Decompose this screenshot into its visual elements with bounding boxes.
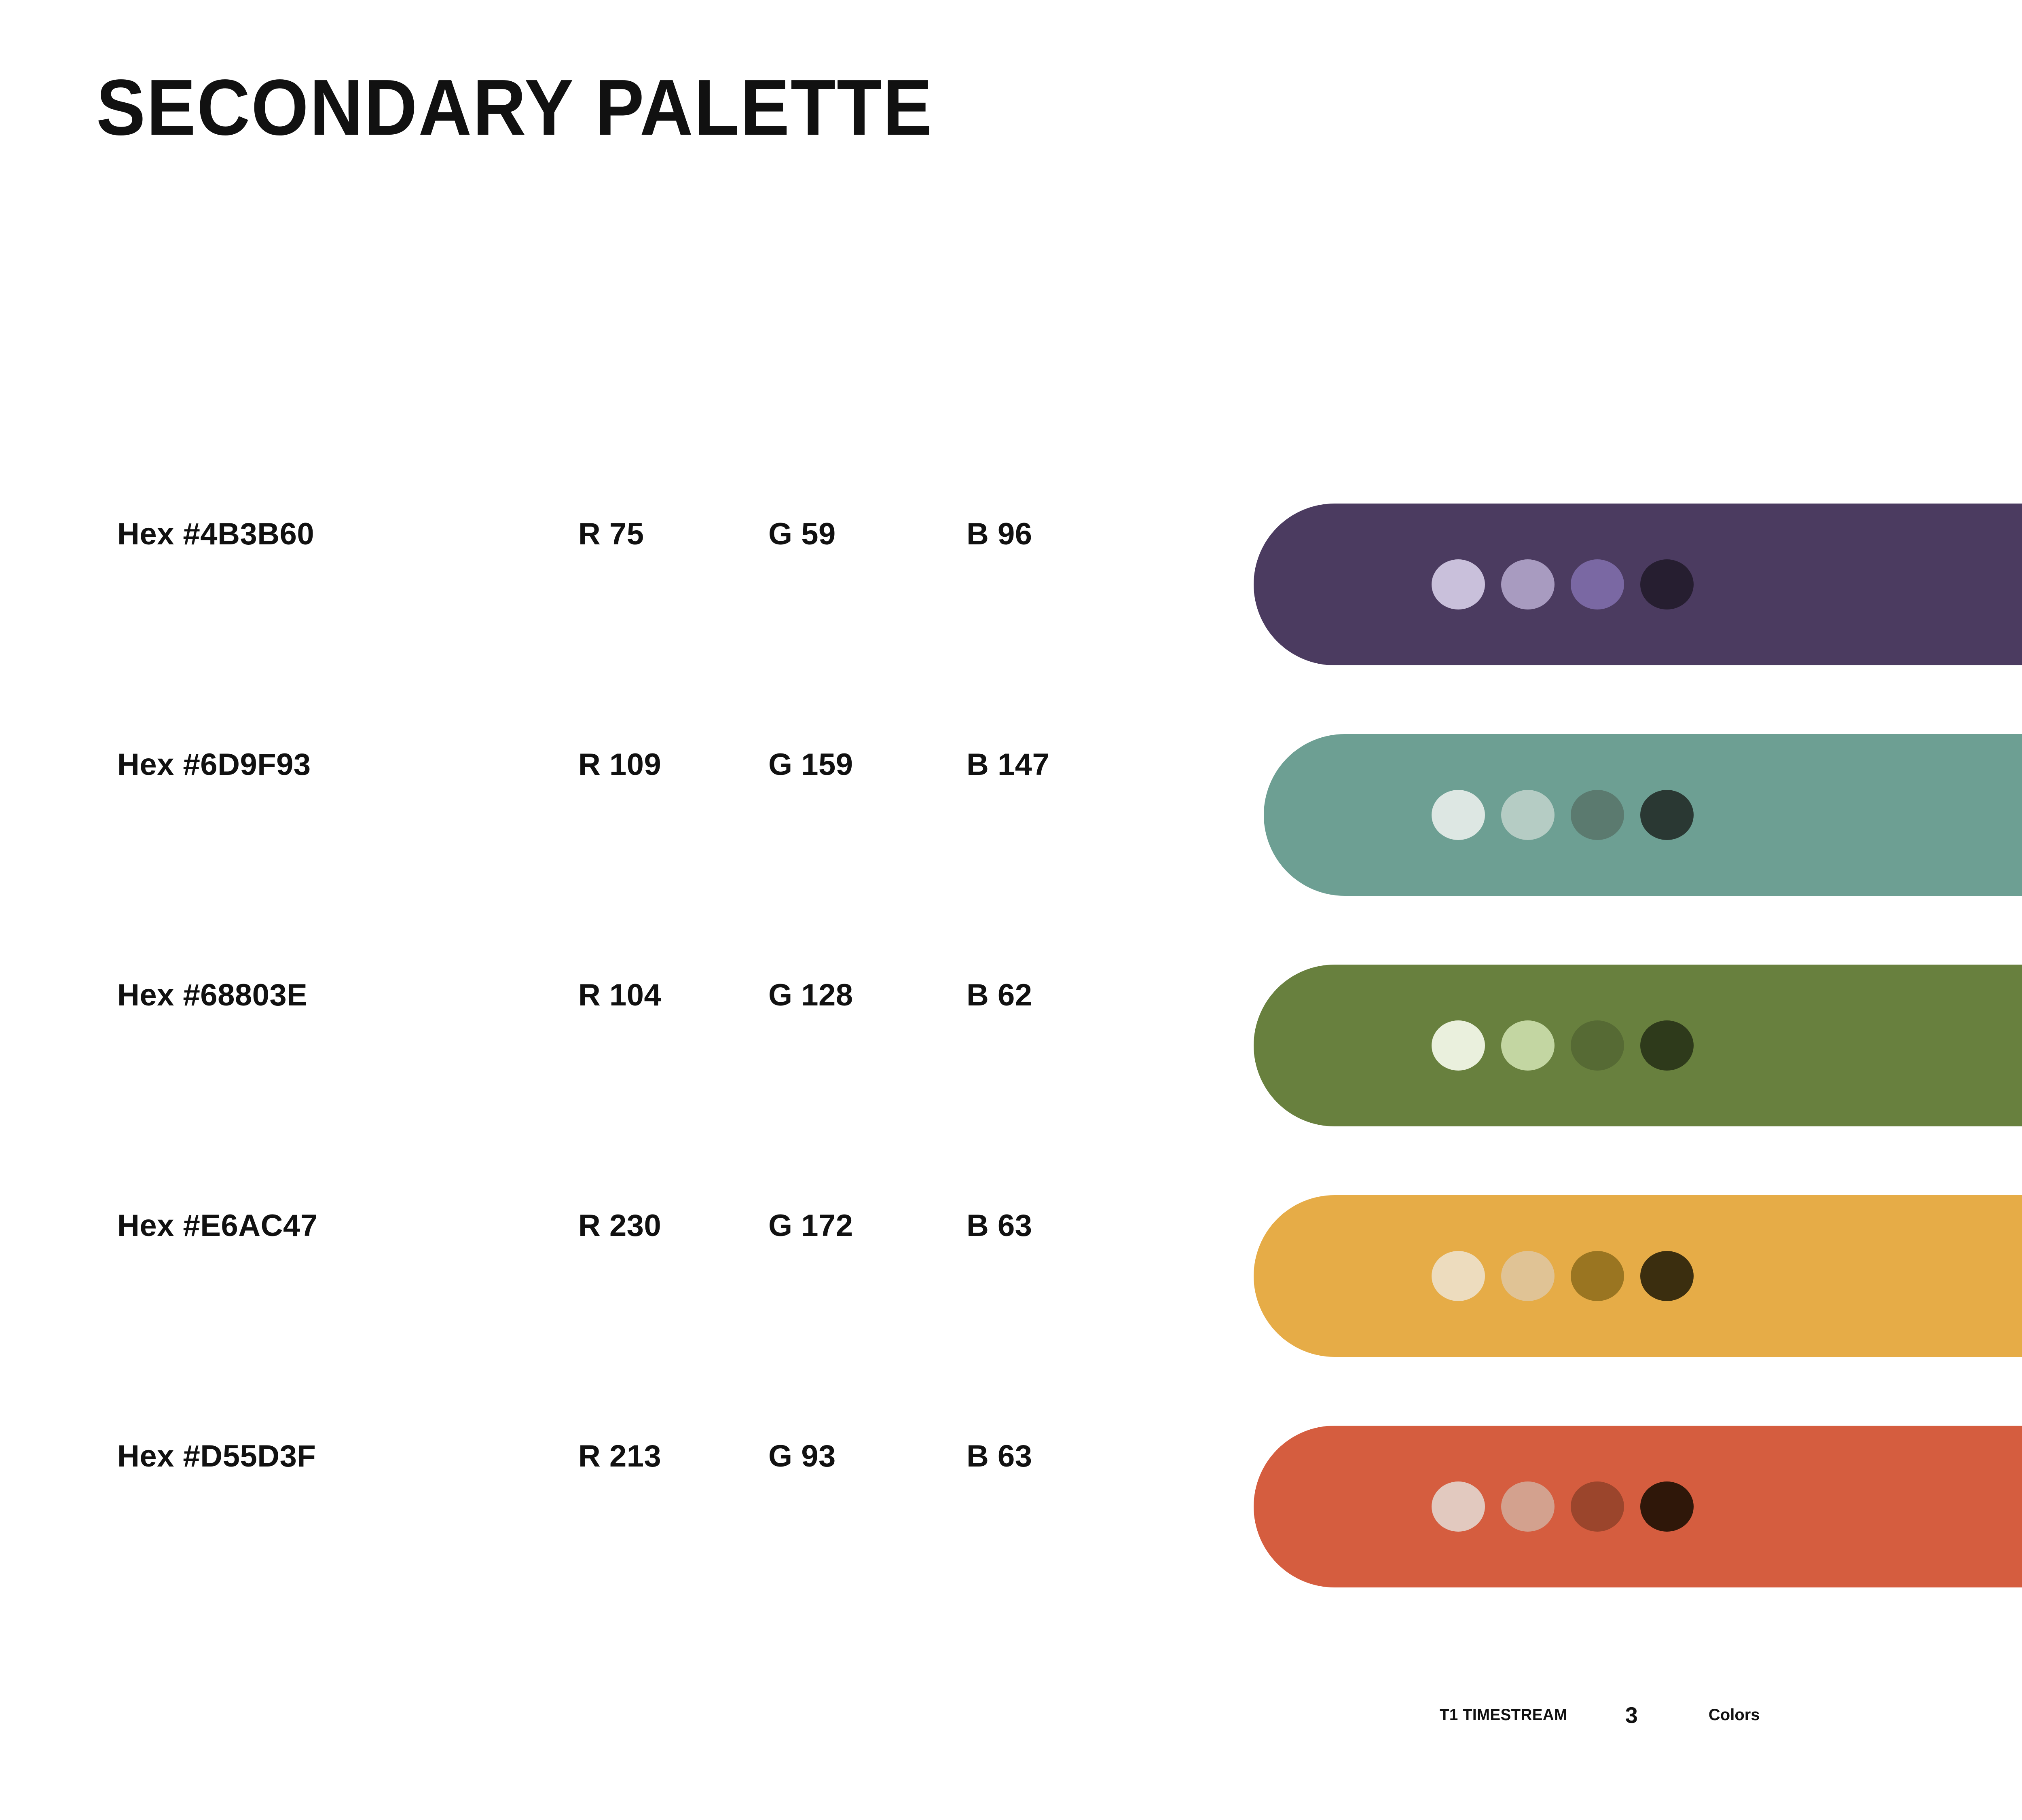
red-value: R 230 — [578, 1208, 661, 1243]
hex-value: Hex #4B3B60 — [117, 516, 314, 552]
tint-swatch[interactable] — [1501, 559, 1555, 609]
spec-row: Hex #68803E R 104 G 128 B 62 — [0, 975, 1173, 1015]
footer-brand: T1 TIMESTREAM — [1440, 1706, 1567, 1724]
tint-swatch[interactable] — [1640, 790, 1694, 840]
tint-swatch[interactable] — [1432, 1251, 1485, 1301]
footer-section: Colors — [1709, 1706, 1760, 1724]
tint-swatch[interactable] — [1501, 1020, 1555, 1071]
tint-swatch[interactable] — [1640, 559, 1694, 609]
blue-value: B 63 — [967, 1439, 1032, 1474]
green-value: G 172 — [768, 1208, 853, 1243]
spec-row: Hex #D55D3F R 213 G 93 B 63 — [0, 1436, 1173, 1476]
swatch-group — [1432, 504, 1710, 665]
tint-swatch[interactable] — [1571, 790, 1624, 840]
red-value: R 109 — [578, 747, 661, 782]
tint-swatch[interactable] — [1640, 1481, 1694, 1532]
tint-swatch[interactable] — [1640, 1020, 1694, 1071]
footer: T1 TIMESTREAM 3 Colors — [1440, 1701, 1760, 1729]
red-value: R 104 — [578, 978, 661, 1013]
green-value: G 93 — [768, 1439, 836, 1474]
swatch-group — [1432, 965, 1710, 1126]
color-bar-sockeye[interactable]: SOCKEYE — [1254, 1426, 2022, 1587]
spec-row: Hex #4B3B60 R 75 G 59 B 96 — [0, 514, 1173, 554]
swatch-group — [1432, 1426, 1710, 1587]
swatch-group — [1432, 734, 1710, 896]
tint-swatch[interactable] — [1501, 1251, 1555, 1301]
hex-value: Hex #68803E — [117, 978, 307, 1013]
color-bar-prune[interactable]: PRUNE — [1254, 504, 2022, 665]
tint-swatch[interactable] — [1432, 1481, 1485, 1532]
spec-row: Hex #6D9F93 R 109 G 159 B 147 — [0, 744, 1173, 785]
tint-swatch[interactable] — [1640, 1251, 1694, 1301]
page-title: SECONDARY PALETTE — [96, 68, 933, 147]
green-value: G 59 — [768, 516, 836, 552]
color-bar-evergreen[interactable]: EVERGREEN — [1254, 965, 2022, 1126]
blue-value: B 63 — [967, 1208, 1032, 1243]
footer-page-number: 3 — [1625, 1702, 1638, 1728]
blue-value: B 147 — [967, 747, 1049, 782]
tint-swatch[interactable] — [1571, 1251, 1624, 1301]
blue-value: B 62 — [967, 978, 1032, 1013]
green-value: G 128 — [768, 978, 853, 1013]
color-bar-columbia[interactable]: COLUMBIA — [1264, 734, 2022, 896]
hex-value: Hex #E6AC47 — [117, 1208, 318, 1243]
tint-swatch[interactable] — [1571, 1481, 1624, 1532]
swatch-group — [1432, 1195, 1710, 1357]
blue-value: B 96 — [967, 516, 1032, 552]
spec-row: Hex #E6AC47 R 230 G 172 B 63 — [0, 1205, 1173, 1246]
tint-swatch[interactable] — [1571, 559, 1624, 609]
tint-swatch[interactable] — [1501, 790, 1555, 840]
color-bar-hops[interactable]: HOPS — [1254, 1195, 2022, 1357]
tint-swatch[interactable] — [1571, 1020, 1624, 1071]
hex-value: Hex #6D9F93 — [117, 747, 311, 782]
red-value: R 75 — [578, 516, 644, 552]
tint-swatch[interactable] — [1501, 1481, 1555, 1532]
tint-swatch[interactable] — [1432, 790, 1485, 840]
hex-value: Hex #D55D3F — [117, 1439, 316, 1474]
tint-swatch[interactable] — [1432, 559, 1485, 609]
tint-swatch[interactable] — [1432, 1020, 1485, 1071]
green-value: G 159 — [768, 747, 853, 782]
red-value: R 213 — [578, 1439, 661, 1474]
